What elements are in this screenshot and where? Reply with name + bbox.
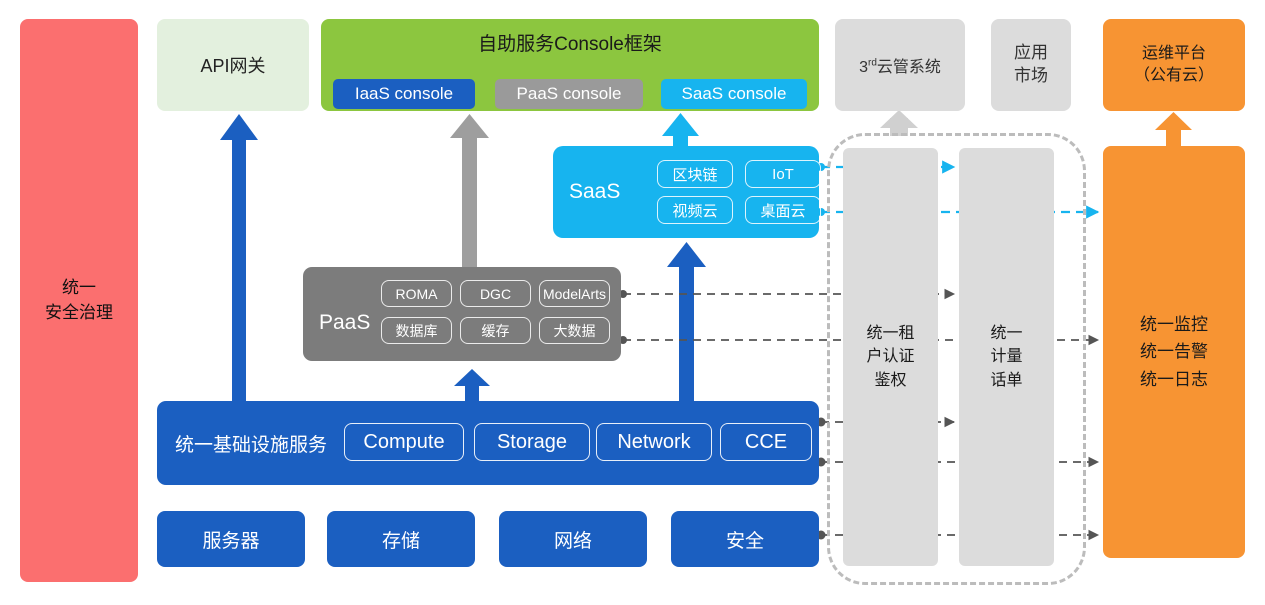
security-governance-line1: 统一 — [45, 276, 113, 301]
paas-chip-modelarts-label: ModelArts — [543, 286, 606, 302]
saas-chip-iot-label: IoT — [772, 166, 794, 183]
arrow-paas-to-console — [450, 114, 489, 268]
architecture-diagram: 统一 安全治理 API网关 自助服务Console框架 IaaS console… — [0, 0, 1265, 605]
third-party-cloud-superscript: rd — [868, 58, 877, 69]
paas-chip-database-label: 数据库 — [396, 321, 438, 341]
resource-box-storage[interactable]: 存储 — [327, 511, 475, 567]
api-gateway-label: API网关 — [200, 52, 265, 78]
paas-console-label: PaaS console — [517, 84, 622, 104]
saas-chip-video-cloud[interactable]: 视频云 — [657, 196, 733, 224]
infra-chip-cce-label: CCE — [745, 431, 787, 454]
unified-metering-line1: 统一 — [990, 322, 1022, 345]
paas-chip-cache[interactable]: 缓存 — [460, 317, 531, 344]
paas-chip-dgc-label: DGC — [480, 286, 511, 302]
resource-box-storage-label: 存储 — [382, 526, 420, 553]
self-service-console-frame[interactable]: 自助服务Console框架 IaaS console PaaS console … — [321, 19, 819, 111]
unified-monitoring-label: 统一监控 — [1140, 311, 1208, 338]
ops-platform-line2: （公有云） — [1134, 65, 1214, 87]
resource-box-server[interactable]: 服务器 — [157, 511, 305, 567]
saas-chip-iot[interactable]: IoT — [745, 160, 821, 188]
infra-chip-compute-label: Compute — [363, 431, 444, 454]
paas-chip-dgc[interactable]: DGC — [460, 280, 531, 307]
saas-console-label: SaaS console — [682, 84, 787, 104]
unified-metering-billing-column[interactable]: 统一 计量 话单 — [959, 148, 1054, 566]
unified-alarm-label: 统一告警 — [1140, 338, 1208, 365]
infra-chip-network-label: Network — [617, 431, 690, 454]
infra-chip-storage-label: Storage — [497, 431, 567, 454]
iaas-console-label: IaaS console — [355, 84, 453, 104]
infra-chip-storage[interactable]: Storage — [474, 423, 590, 461]
resource-box-network[interactable]: 网络 — [499, 511, 647, 567]
resource-box-server-label: 服务器 — [202, 526, 259, 553]
paas-layer-label: PaaS — [319, 311, 370, 335]
security-governance-panel[interactable]: 统一 安全治理 — [20, 19, 138, 582]
paas-console-chip[interactable]: PaaS console — [495, 79, 643, 109]
paas-layer-box[interactable]: PaaS ROMA DGC ModelArts 数据库 缓存 大数据 — [303, 267, 621, 361]
arrow-infra-to-api-gateway — [220, 114, 258, 403]
saas-chip-desktop-cloud[interactable]: 桌面云 — [745, 196, 821, 224]
saas-console-chip[interactable]: SaaS console — [661, 79, 807, 109]
saas-layer-box[interactable]: SaaS 区块链 IoT 视频云 桌面云 — [553, 146, 819, 238]
third-party-cloud-mgmt-box[interactable]: 3rd云管系统 — [835, 19, 965, 111]
saas-chip-video-cloud-label: 视频云 — [672, 200, 717, 221]
unified-metering-line3: 话单 — [990, 369, 1022, 392]
unified-metering-line2: 计量 — [990, 345, 1022, 368]
paas-chip-modelarts[interactable]: ModelArts — [539, 280, 610, 307]
unified-tenant-auth-column[interactable]: 统一租 户认证 鉴权 — [843, 148, 938, 566]
paas-chip-database[interactable]: 数据库 — [381, 317, 452, 344]
arrow-shared-to-ops-platform — [1155, 112, 1192, 146]
app-market-line2: 市场 — [1014, 65, 1048, 88]
infra-chip-network[interactable]: Network — [596, 423, 712, 461]
unified-tenant-auth-line3: 鉴权 — [866, 369, 914, 392]
unified-ops-panel[interactable]: 统一监控 统一告警 统一日志 — [1103, 146, 1245, 558]
infra-chip-compute[interactable]: Compute — [344, 423, 464, 461]
paas-chip-roma[interactable]: ROMA — [381, 280, 452, 307]
paas-chip-big-data[interactable]: 大数据 — [539, 317, 610, 344]
paas-chip-cache-label: 缓存 — [482, 321, 510, 341]
third-party-cloud-suffix: 云管系统 — [877, 59, 941, 76]
paas-chip-roma-label: ROMA — [396, 286, 438, 302]
ops-platform-line1: 运维平台 — [1134, 43, 1214, 65]
app-market-line1: 应用 — [1014, 42, 1048, 65]
unified-infrastructure-box[interactable]: 统一基础设施服务 Compute Storage Network CCE — [157, 401, 819, 485]
saas-layer-label: SaaS — [569, 180, 620, 204]
unified-tenant-auth-line2: 户认证 — [866, 345, 914, 368]
iaas-console-chip[interactable]: IaaS console — [333, 79, 475, 109]
resource-box-security-label: 安全 — [726, 526, 764, 553]
third-party-cloud-label: 3rd云管系统 — [859, 53, 941, 77]
infra-chip-cce[interactable]: CCE — [720, 423, 812, 461]
saas-chip-blockchain-label: 区块链 — [672, 164, 717, 185]
ops-platform-box[interactable]: 运维平台 （公有云） — [1103, 19, 1245, 111]
console-frame-title: 自助服务Console框架 — [321, 29, 819, 56]
saas-chip-blockchain[interactable]: 区块链 — [657, 160, 733, 188]
resource-box-network-label: 网络 — [554, 526, 592, 553]
unified-log-label: 统一日志 — [1140, 366, 1208, 393]
security-governance-line2: 安全治理 — [45, 301, 113, 326]
paas-chip-big-data-label: 大数据 — [554, 321, 596, 341]
resource-box-security[interactable]: 安全 — [671, 511, 819, 567]
unified-infrastructure-label: 统一基础设施服务 — [175, 430, 327, 457]
arrow-saas-to-console — [662, 113, 699, 149]
third-party-cloud-prefix: 3 — [859, 59, 868, 76]
unified-tenant-auth-line1: 统一租 — [866, 322, 914, 345]
app-market-box[interactable]: 应用 市场 — [991, 19, 1071, 111]
saas-chip-desktop-cloud-label: 桌面云 — [760, 200, 805, 221]
arrow-infra-to-saas — [667, 242, 706, 403]
arrow-infra-to-paas — [454, 369, 490, 403]
api-gateway-box[interactable]: API网关 — [157, 19, 309, 111]
